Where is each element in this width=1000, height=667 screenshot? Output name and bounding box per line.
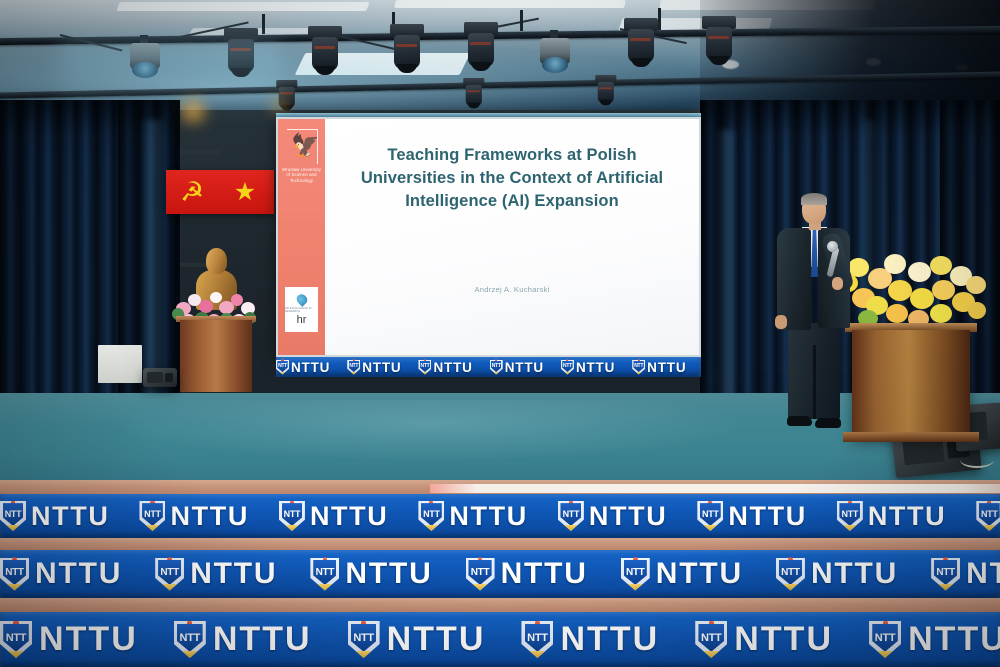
nttu-crest-icon: NTT [869, 621, 901, 658]
speaker-cable [960, 452, 994, 468]
nttu-crest-icon: NTT [347, 360, 360, 375]
nttu-crest-icon: NTT [279, 501, 305, 531]
crest-shield: NTT [420, 361, 430, 372]
curtain-highlight [716, 130, 738, 410]
crest-ribbon [694, 651, 729, 660]
crest-initials: NTT [563, 509, 580, 519]
nttu-wordmark: NTTU [291, 360, 330, 375]
crest-shield: NTT [633, 361, 643, 372]
nttu-step-banner-bottom: NTTNTTUNTTNTTUNTTNTTUNTTNTTUNTTNTTUNTTNT… [0, 612, 1000, 667]
person-hair [801, 193, 827, 205]
crest-ribbon [464, 584, 495, 592]
crest-ribbon [930, 584, 961, 592]
nttu-wordmark: NTTU [728, 501, 806, 532]
nttu-logo-unit: NTTNTTU [931, 557, 1000, 591]
truss-hanger [520, 10, 523, 31]
nttu-wordmark: NTTU [647, 360, 686, 375]
crest-initials: NTT [6, 632, 26, 644]
nttu-wordmark: NTTU [345, 557, 432, 591]
crest-initials: NTT [316, 567, 335, 578]
crest-ribbon [557, 525, 585, 532]
crest-shield: NTT [177, 624, 203, 652]
nttu-step-banner-top: NTTNTTUNTTNTTUNTTNTTUNTTNTTUNTTNTTUNTTNT… [0, 494, 1000, 538]
nttu-wordmark: NTTU [966, 557, 1000, 591]
nttu-wordmark: NTTU [589, 501, 667, 532]
projection-screen: 🦅 Wrocław University of Science and Tech… [278, 119, 699, 355]
nttu-logo-unit: NTTNTTU [0, 620, 174, 659]
crest-shield: NTT [349, 361, 359, 372]
nttu-logo-unit: NTTNTTU [276, 360, 347, 375]
crest-initials: NTT [842, 509, 859, 519]
nttu-wordmark: NTTU [656, 557, 743, 591]
crest-ribbon [154, 584, 185, 592]
nttu-crest-icon: NTT [276, 360, 289, 375]
crest-ribbon [418, 372, 432, 376]
crest-initials: NTT [701, 632, 721, 644]
crest-shield: NTT [3, 624, 29, 652]
crest-initials: NTT [5, 567, 24, 578]
crest-shield: NTT [979, 503, 1000, 526]
nttu-crest-icon: NTT [0, 621, 32, 658]
nttu-wordmark: NTTU [31, 501, 109, 532]
nttu-wordmark: NTTU [449, 501, 527, 532]
slide-sidebar: 🦅 Wrocław University of Science and Tech… [278, 119, 325, 355]
nttu-wordmark: NTTU [433, 360, 472, 375]
nttu-logo-unit: NTTNTTU [310, 557, 465, 591]
ceiling-light-panel [394, 0, 626, 8]
crest-shield: NTT [421, 503, 442, 526]
nttu-wordmark: NTTU [35, 557, 122, 591]
slide-title: Teaching Frameworks at Polish Universiti… [338, 144, 686, 213]
crest-ribbon [138, 525, 166, 532]
crest-initials: NTT [423, 509, 440, 519]
crest-ribbon [836, 525, 864, 532]
crest-ribbon [173, 651, 208, 660]
crest-initials: NTT [875, 632, 895, 644]
nttu-logo-unit: NTTNTTU [632, 360, 701, 375]
nttu-crest-icon: NTT [837, 501, 863, 531]
person-hand-right [832, 277, 843, 290]
nttu-logo-unit: NTTNTTU [418, 360, 489, 375]
crest-ribbon [620, 584, 651, 592]
crest-shield: NTT [282, 503, 303, 526]
crest-shield: NTT [872, 624, 898, 652]
crest-shield: NTT [562, 361, 572, 372]
nttu-wordmark: NTTU [170, 501, 248, 532]
nttu-crest-icon: NTT [521, 621, 553, 658]
crest-initials: NTT [5, 509, 22, 519]
stage-photo-scene: ☭ ★ 🦅 Wrocław University of Science and … [0, 0, 1000, 667]
nttu-crest-icon: NTT [0, 558, 29, 591]
crest-shield: NTT [839, 503, 860, 526]
crest-ribbon [276, 372, 290, 376]
crest-initials: NTT [471, 567, 490, 578]
stage-floor-highlight [120, 400, 740, 460]
truss-hanger [658, 8, 661, 30]
nttu-logo-unit: NTTNTTU [279, 501, 418, 532]
crest-initials: NTT [626, 567, 645, 578]
nttu-logo-unit: NTTNTTU [348, 620, 522, 659]
crest-ribbon [278, 525, 306, 532]
nttu-logo-unit: NTTNTTU [869, 620, 1000, 659]
nttu-logo-unit: NTTNTTU [695, 620, 869, 659]
nttu-wordmark: NTTU [811, 557, 898, 591]
lectern-podium: NTT UNIVERSITY NGUYEN TAT THANH [852, 330, 970, 438]
bust-pedestal [180, 320, 252, 392]
nttu-crest-icon: NTT [174, 621, 206, 658]
microphone-capsule-icon [827, 241, 838, 252]
nttu-crest-icon: NTT [558, 501, 584, 531]
nttu-logo-unit: NTTNTTU [976, 501, 1000, 532]
crest-ribbon [489, 372, 503, 376]
person-shoe-left [787, 416, 812, 426]
stage-monitor-speaker-left [143, 368, 177, 387]
nttu-wordmark: NTTU [868, 501, 946, 532]
star-icon: ★ [232, 180, 258, 205]
communist-party-flag: ☭ ★ [166, 170, 274, 214]
person-leg-split [813, 345, 816, 419]
nttu-logo-unit: NTTNTTU [0, 557, 155, 591]
crest-shield: NTT [491, 361, 501, 372]
crest-shield: NTT [700, 503, 721, 526]
crest-initials: NTT [527, 632, 547, 644]
crest-shield: NTT [351, 624, 377, 652]
crest-shield: NTT [3, 503, 24, 526]
nttu-crest-icon: NTT [490, 360, 503, 375]
stage-edge-stripe [430, 484, 1000, 493]
crest-ribbon [309, 584, 340, 592]
podium-base [843, 432, 979, 442]
floor-equipment-box [98, 345, 142, 383]
crest-shield: NTT [934, 560, 957, 585]
nttu-wordmark: NTTU [190, 557, 277, 591]
nttu-logo-unit: NTTNTTU [621, 557, 776, 591]
nttu-crest-icon: NTT [310, 558, 339, 591]
nttu-logo-unit: NTTNTTU [347, 360, 418, 375]
nttu-logo-unit: NTTNTTU [561, 360, 632, 375]
crest-shield: NTT [142, 503, 163, 526]
nttu-crest-icon: NTT [931, 558, 960, 591]
crest-shield: NTT [3, 560, 26, 585]
crest-initials: NTT [160, 567, 179, 578]
crest-initials: NTT [981, 509, 998, 519]
bust-head [206, 248, 227, 274]
nttu-crest-icon: NTT [418, 360, 431, 375]
crest-ribbon [696, 525, 724, 532]
crest-ribbon [0, 525, 27, 532]
nttu-logo-unit: NTTNTTU [521, 620, 695, 659]
crest-shield: NTT [560, 503, 581, 526]
person-hand-left [775, 315, 787, 329]
crest-ribbon [775, 584, 806, 592]
nttu-wordmark: NTTU [560, 620, 659, 659]
person-shoe-right [815, 418, 841, 428]
nttu-crest-icon: NTT [621, 558, 650, 591]
truss-hanger [262, 14, 265, 34]
nttu-logo-unit: NTTNTTU [418, 501, 557, 532]
crest-ribbon [417, 525, 445, 532]
crest-shield: NTT [468, 560, 491, 585]
crest-ribbon [975, 525, 1000, 532]
slide-university-name: Wrocław University of Science and Techno… [280, 167, 323, 183]
nttu-crest-icon: NTT [695, 621, 727, 658]
crest-shield: NTT [158, 560, 181, 585]
nttu-crest-icon: NTT [139, 501, 165, 531]
nttu-crest-icon: NTT [466, 558, 495, 591]
hr-logo-mark: hr [297, 315, 307, 326]
nttu-crest-icon: NTT [976, 501, 1000, 531]
nttu-wordmark: NTTU [39, 620, 138, 659]
nttu-wordmark: NTTU [505, 360, 544, 375]
crest-ribbon [632, 372, 646, 376]
nttu-crest-icon: NTT [776, 558, 805, 591]
crest-shield: NTT [698, 624, 724, 652]
nttu-logo-unit: NTTNTTU [697, 501, 836, 532]
nttu-wordmark: NTTU [908, 620, 1000, 659]
nttu-crest-icon: NTT [155, 558, 184, 591]
nttu-step-banner-middle: NTTNTTUNTTNTTUNTTNTTUNTTNTTUNTTNTTUNTTNT… [0, 550, 1000, 598]
nttu-wordmark: NTTU [213, 620, 312, 659]
crest-ribbon [560, 372, 574, 376]
nttu-wordmark: NTTU [501, 557, 588, 591]
crest-initials: NTT [936, 567, 955, 578]
crest-initials: NTT [702, 509, 719, 519]
crest-shield: NTT [313, 560, 336, 585]
crest-ribbon [0, 584, 30, 592]
nttu-logo-unit: NTTNTTU [490, 360, 561, 375]
nttu-wordmark: NTTU [576, 360, 615, 375]
nttu-logo-unit: NTTNTTU [155, 557, 310, 591]
slide-author: Andrzej A. Kucharski [338, 285, 686, 294]
crest-initials: NTT [492, 363, 501, 369]
crest-initials: NTT [349, 363, 358, 369]
nttu-logo-unit: NTTNTTU [466, 557, 621, 591]
nttu-screen-banner: NTTNTTUNTTNTTUNTTNTTUNTTNTTUNTTNTTUNTTNT… [276, 357, 701, 377]
nttu-wordmark: NTTU [734, 620, 833, 659]
crest-shield: NTT [525, 624, 551, 652]
nttu-crest-icon: NTT [0, 501, 26, 531]
nttu-crest-icon: NTT [418, 501, 444, 531]
crest-shield: NTT [624, 560, 647, 585]
crest-initials: NTT [421, 363, 430, 369]
hr-logo-caption: HR EXCELLENCE IN RESEARCH [285, 307, 318, 313]
nttu-logo-unit: NTTNTTU [139, 501, 278, 532]
nttu-logo-unit: NTTNTTU [837, 501, 976, 532]
nttu-crest-icon: NTT [348, 621, 380, 658]
crest-initials: NTT [781, 567, 800, 578]
nttu-logo-unit: NTTNTTU [0, 501, 139, 532]
crest-initials: NTT [144, 509, 161, 519]
nttu-crest-icon: NTT [632, 360, 645, 375]
crest-initials: NTT [180, 632, 200, 644]
crest-ribbon [347, 372, 361, 376]
crest-ribbon [520, 651, 555, 660]
ceiling-light-panel [116, 2, 370, 11]
hr-excellence-logo: HR EXCELLENCE IN RESEARCH hr [285, 287, 318, 332]
crest-initials: NTT [353, 632, 373, 644]
crest-initials: NTT [634, 363, 643, 369]
nttu-crest-icon: NTT [697, 501, 723, 531]
crest-ribbon [868, 651, 903, 660]
crest-shield: NTT [779, 560, 802, 585]
speaker-person [770, 195, 860, 440]
hammer-sickle-icon: ☭ [180, 178, 212, 206]
crest-initials: NTT [284, 509, 301, 519]
crest-shield: NTT [277, 361, 287, 372]
hr-drop-icon [294, 292, 309, 307]
nttu-logo-unit: NTTNTTU [558, 501, 697, 532]
nttu-wordmark: NTTU [362, 360, 401, 375]
nttu-logo-unit: NTTNTTU [776, 557, 931, 591]
nttu-wordmark: NTTU [387, 620, 486, 659]
nttu-logo-unit: NTTNTTU [174, 620, 348, 659]
nttu-wordmark: NTTU [310, 501, 388, 532]
crest-initials: NTT [278, 363, 287, 369]
nttu-crest-icon: NTT [561, 360, 574, 375]
crest-ribbon [346, 651, 381, 660]
crest-ribbon [0, 651, 33, 660]
crest-initials: NTT [563, 363, 572, 369]
stage-step-tread-bottom [0, 598, 1000, 613]
pwr-eagle-logo-icon: 🦅 [291, 132, 313, 159]
